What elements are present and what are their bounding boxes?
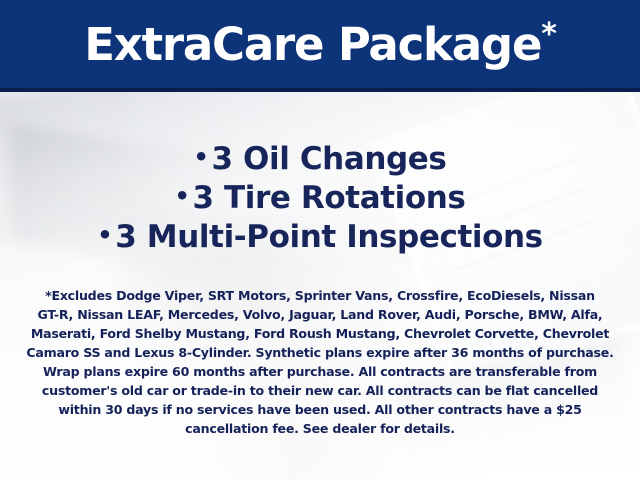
extracare-package-ad: ExtraCare Package* •3 Oil Changes •3 Tir… (0, 0, 640, 480)
disclaimer-line: Wrap plans expire 60 months after purcha… (26, 362, 614, 381)
bullet-icon: • (97, 221, 115, 249)
disclaimer-line: customer's old car or trade-in to their … (26, 381, 614, 400)
disclaimer-line: *Excludes Dodge Viper, SRT Motors, Sprin… (26, 286, 614, 305)
bullet-icon: • (175, 182, 193, 210)
disclaimer-line: Maserati, Ford Shelby Mustang, Ford Rous… (26, 324, 614, 343)
disclaimer-line: cancellation fee. See dealer for details… (26, 419, 614, 438)
page-title-footnote-marker: * (541, 17, 556, 52)
benefits-list: •3 Oil Changes •3 Tire Rotations •3 Mult… (0, 139, 640, 256)
page-title-text: ExtraCare Package (84, 18, 541, 71)
list-item: •3 Oil Changes (0, 139, 640, 178)
disclaimer-line: GT-R, Nissan LEAF, Mercedes, Volvo, Jagu… (26, 305, 614, 324)
bullet-icon: • (194, 143, 212, 171)
list-item-label: 3 Oil Changes (211, 141, 446, 177)
disclaimer-line: Camaro SS and Lexus 8-Cylinder. Syntheti… (26, 343, 614, 362)
list-item-label: 3 Tire Rotations (192, 180, 465, 216)
page-title: ExtraCare Package* (0, 17, 640, 73)
list-item-label: 3 Multi-Point Inspections (115, 219, 542, 255)
header-banner: ExtraCare Package* (0, 0, 640, 92)
list-item: •3 Multi-Point Inspections (0, 217, 640, 256)
disclaimer-line: within 30 days if no services have been … (26, 400, 614, 419)
banner-bottom-rule (0, 88, 640, 92)
list-item: •3 Tire Rotations (0, 178, 640, 217)
disclaimer-text: *Excludes Dodge Viper, SRT Motors, Sprin… (26, 286, 614, 438)
